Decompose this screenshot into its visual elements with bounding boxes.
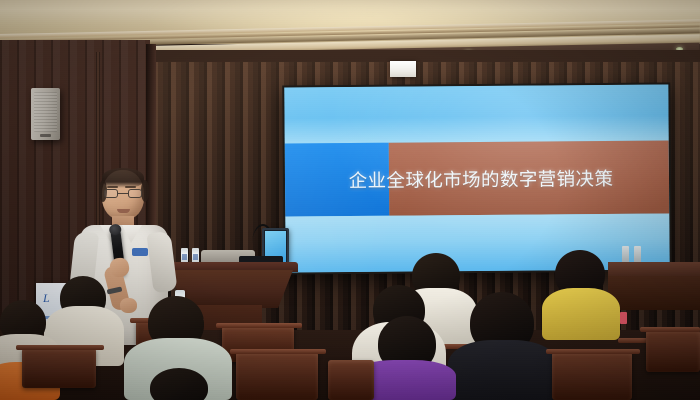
slide-top-band bbox=[284, 84, 668, 143]
presenter-hair-side bbox=[141, 180, 149, 202]
chair-back bbox=[646, 330, 700, 372]
phone bbox=[620, 312, 627, 324]
chair-rail bbox=[546, 349, 640, 354]
glasses-lens-left bbox=[104, 189, 118, 198]
speaker-grille bbox=[34, 92, 57, 132]
chair-back bbox=[552, 352, 632, 400]
chair-rail bbox=[16, 345, 104, 350]
microphone-head bbox=[109, 223, 122, 235]
presenter-eyebrow bbox=[125, 186, 136, 188]
chair-back bbox=[328, 360, 374, 400]
audience-shoulders bbox=[542, 288, 620, 340]
audience-head bbox=[150, 368, 208, 400]
glasses-bridge bbox=[118, 193, 128, 194]
side-table-front bbox=[608, 276, 700, 310]
chair-back bbox=[236, 352, 318, 400]
audience-shoulders bbox=[448, 340, 558, 400]
slide-title: 企业全球化市场的数字营销决策 bbox=[285, 140, 670, 216]
presenter-hair bbox=[102, 168, 144, 188]
chair-rail bbox=[230, 349, 326, 354]
presenter-shirt-logo bbox=[132, 248, 148, 256]
projection-screen-frame: 企业全球化市场的数字营销决策 bbox=[282, 82, 671, 274]
conference-room-photo: 企业全球化市场的数字营销决策 bbox=[0, 0, 700, 400]
chair-rail bbox=[640, 327, 700, 332]
speaker-logo bbox=[40, 134, 51, 137]
screen-mount-bracket bbox=[390, 61, 416, 77]
presenter-mouth bbox=[117, 209, 130, 213]
projection-screen: 企业全球化市场的数字营销决策 bbox=[284, 84, 669, 272]
glasses-lens-right bbox=[128, 189, 142, 198]
chair-rail bbox=[216, 323, 302, 328]
glasses-icon bbox=[104, 189, 142, 198]
chair-back bbox=[22, 348, 96, 388]
loudspeaker-icon bbox=[31, 88, 60, 140]
presenter-hand-lower bbox=[120, 298, 137, 313]
presenter-eyebrow bbox=[107, 186, 118, 188]
